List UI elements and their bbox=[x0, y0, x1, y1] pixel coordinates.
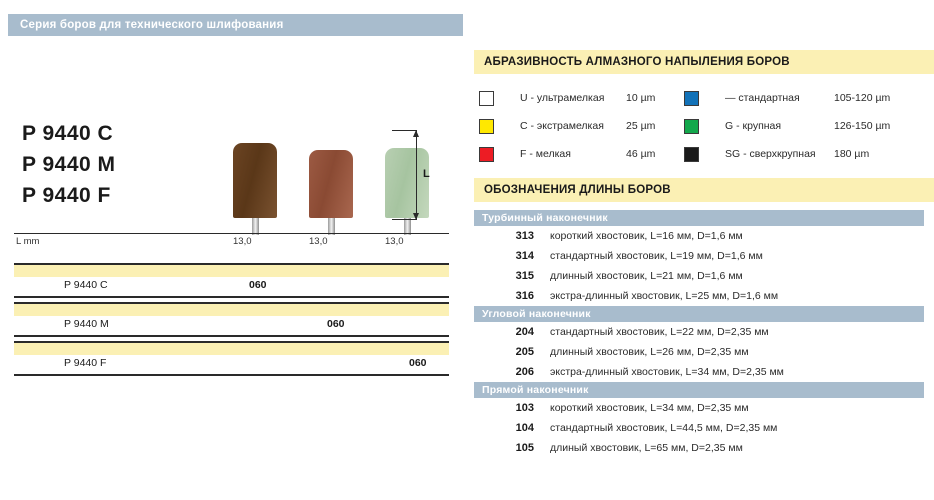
lengths-row-description: короткий хвостовик, L=34 мм, D=2,35 мм bbox=[550, 402, 749, 414]
lengths-table: Турбинный наконечник313короткий хвостови… bbox=[474, 210, 924, 458]
square-swatch-icon bbox=[684, 91, 699, 106]
product-code-m: P 9440 M bbox=[22, 149, 116, 180]
bur-length-values: 13,0 13,0 13,0 bbox=[225, 236, 440, 250]
product-table: P 9440 C 060P 9440 M 060P 9440 F 060 bbox=[14, 263, 449, 380]
bur-length-value: 13,0 bbox=[309, 236, 328, 247]
lengths-section-header: Угловой наконечник bbox=[474, 306, 924, 322]
abrasiveness-legend-left: U - ультрамелкая10 µmC - экстрамелкая25 … bbox=[474, 86, 604, 170]
lengths-row: 206экстра-длинный хвостовик, L=34 мм, D=… bbox=[474, 362, 924, 382]
lengths-row-description: длинный хвостовик, L=21 мм, D=1,6 мм bbox=[550, 270, 743, 282]
arrow-up-icon bbox=[413, 130, 419, 137]
lengths-row-code: 204 bbox=[474, 326, 550, 338]
lengths-row: 316экстра-длинный хвостовик, L=25 мм, D=… bbox=[474, 286, 924, 306]
lengths-title: ОБОЗНАЧЕНИЯ ДЛИНЫ БОРОВ bbox=[484, 184, 671, 196]
square-swatch-icon bbox=[479, 147, 494, 162]
row-product-code: P 9440 M bbox=[64, 318, 109, 330]
square-swatch-icon bbox=[479, 91, 494, 106]
table-row[interactable]: P 9440 M 060 bbox=[14, 302, 449, 337]
product-code-list: P 9440 C P 9440 M P 9440 F bbox=[22, 118, 116, 211]
product-code-f: P 9440 F bbox=[22, 180, 116, 211]
lengths-row: 104стандартный хвостовик, L=44,5 мм, D=2… bbox=[474, 418, 924, 438]
row-size-value: 060 bbox=[327, 318, 345, 330]
bur-image-coarse bbox=[233, 143, 277, 235]
lengths-row: 205длинный хвостовик, L=26 мм, D=2,35 мм bbox=[474, 342, 924, 362]
lengths-row-code: 105 bbox=[474, 442, 550, 454]
square-swatch-icon bbox=[684, 147, 699, 162]
lengths-row-description: короткий хвостовик, L=16 мм, D=1,6 мм bbox=[550, 230, 743, 242]
lengths-row-description: стандартный хвостовик, L=44,5 мм, D=2,35… bbox=[550, 422, 777, 434]
measurement-baseline bbox=[14, 233, 449, 234]
legend-item-value: 46 µm bbox=[626, 148, 655, 160]
bur-image-medium bbox=[309, 150, 353, 235]
abrasiveness-title: АБРАЗИВНОСТЬ АЛМАЗНОГО НАПЫЛЕНИЯ БОРОВ bbox=[484, 56, 790, 68]
legend-item: C - экстрамелкая25 µm bbox=[474, 114, 604, 138]
length-unit-label: L mm bbox=[16, 236, 39, 247]
legend-item: SG - сверхкрупная180 µm bbox=[679, 142, 816, 166]
lengths-row-description: стандартный хвостовик, L=22 мм, D=2,35 м… bbox=[550, 326, 769, 338]
legend-item: F - мелкая46 µm bbox=[474, 142, 604, 166]
row-content: P 9440 C 060 bbox=[14, 277, 449, 298]
lengths-row-code: 315 bbox=[474, 270, 550, 282]
row-highlight-band bbox=[14, 265, 449, 277]
dimension-label: L bbox=[423, 168, 430, 180]
legend-item-label: G - крупная bbox=[725, 120, 781, 132]
lengths-row-description: экстра-длинный хвостовик, L=25 мм, D=1,6… bbox=[550, 290, 778, 302]
row-product-code: P 9440 C bbox=[64, 279, 108, 291]
lengths-row-code: 316 bbox=[474, 290, 550, 302]
row-content: P 9440 M 060 bbox=[14, 316, 449, 337]
lengths-row-code: 103 bbox=[474, 402, 550, 414]
lengths-row-code: 205 bbox=[474, 346, 550, 358]
lengths-row: 103короткий хвостовик, L=34 мм, D=2,35 м… bbox=[474, 398, 924, 418]
lengths-section-header: Турбинный наконечник bbox=[474, 210, 924, 226]
dimension-line bbox=[416, 130, 417, 220]
legend-item-value: 126-150 µm bbox=[834, 120, 890, 132]
abrasiveness-legend-right: — стандартная105-120 µmG - крупная126-15… bbox=[679, 86, 816, 170]
legend-item: G - крупная126-150 µm bbox=[679, 114, 816, 138]
legend-item-value: 180 µm bbox=[834, 148, 869, 160]
catalog-page: Серия боров для технического шлифования … bbox=[0, 0, 934, 500]
legend-item-value: 105-120 µm bbox=[834, 92, 890, 104]
lengths-row-description: экстра-длинный хвостовик, L=34 мм, D=2,3… bbox=[550, 366, 784, 378]
lengths-row: 315длинный хвостовик, L=21 мм, D=1,6 мм bbox=[474, 266, 924, 286]
length-dimension-arrow: L bbox=[410, 130, 440, 220]
lengths-row: 314стандартный хвостовик, L=19 мм, D=1,6… bbox=[474, 246, 924, 266]
legend-item-label: F - мелкая bbox=[520, 148, 571, 160]
legend-item-label: SG - сверхкрупная bbox=[725, 148, 816, 160]
lengths-section-header: Прямой наконечник bbox=[474, 382, 924, 398]
bur-length-value: 13,0 bbox=[233, 236, 252, 247]
legend-item-label: U - ультрамелкая bbox=[520, 92, 604, 104]
legend-item: U - ультрамелкая10 µm bbox=[474, 86, 604, 110]
lengths-row-description: длиный хвостовик, L=65 мм, D=2,35 мм bbox=[550, 442, 743, 454]
product-code-c: P 9440 C bbox=[22, 118, 116, 149]
table-row[interactable]: P 9440 F 060 bbox=[14, 341, 449, 376]
row-size-value: 060 bbox=[409, 357, 427, 369]
bur-body bbox=[309, 150, 353, 218]
legend-item-label: C - экстрамелкая bbox=[520, 120, 604, 132]
lengths-row-code: 313 bbox=[474, 230, 550, 242]
reference-panel: АБРАЗИВНОСТЬ АЛМАЗНОГО НАПЫЛЕНИЯ БОРОВ U… bbox=[474, 0, 934, 500]
row-product-code: P 9440 F bbox=[64, 357, 106, 369]
row-highlight-band bbox=[14, 304, 449, 316]
product-panel: P 9440 C P 9440 M P 9440 F L bbox=[0, 0, 467, 500]
legend-item-label: — стандартная bbox=[725, 92, 800, 104]
table-row[interactable]: P 9440 C 060 bbox=[14, 263, 449, 298]
row-size-value: 060 bbox=[249, 279, 267, 291]
lengths-row: 105длиный хвостовик, L=65 мм, D=2,35 мм bbox=[474, 438, 924, 458]
legend-item-value: 25 µm bbox=[626, 120, 655, 132]
bur-length-value: 13,0 bbox=[385, 236, 404, 247]
lengths-row-description: длинный хвостовик, L=26 мм, D=2,35 мм bbox=[550, 346, 749, 358]
row-highlight-band bbox=[14, 343, 449, 355]
square-swatch-icon bbox=[684, 119, 699, 134]
legend-item: — стандартная105-120 µm bbox=[679, 86, 816, 110]
lengths-row-code: 314 bbox=[474, 250, 550, 262]
square-swatch-icon bbox=[479, 119, 494, 134]
legend-item-value: 10 µm bbox=[626, 92, 655, 104]
lengths-header: ОБОЗНАЧЕНИЯ ДЛИНЫ БОРОВ bbox=[474, 178, 934, 202]
bur-body bbox=[233, 143, 277, 218]
lengths-row-description: стандартный хвостовик, L=19 мм, D=1,6 мм bbox=[550, 250, 763, 262]
arrow-down-icon bbox=[413, 213, 419, 220]
abrasiveness-header: АБРАЗИВНОСТЬ АЛМАЗНОГО НАПЫЛЕНИЯ БОРОВ bbox=[474, 50, 934, 74]
lengths-row: 313короткий хвостовик, L=16 мм, D=1,6 мм bbox=[474, 226, 924, 246]
lengths-row-code: 206 bbox=[474, 366, 550, 378]
lengths-row: 204стандартный хвостовик, L=22 мм, D=2,3… bbox=[474, 322, 924, 342]
row-content: P 9440 F 060 bbox=[14, 355, 449, 376]
lengths-row-code: 104 bbox=[474, 422, 550, 434]
